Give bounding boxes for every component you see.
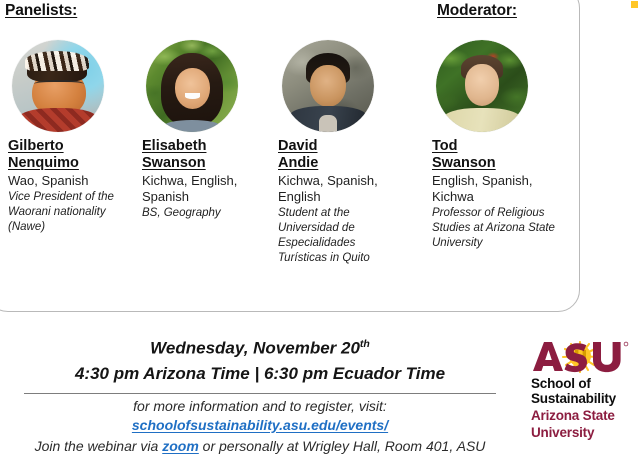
panelist-name-line2: Nenquimo — [8, 155, 136, 172]
portrait-tod-swanson-icon — [436, 40, 528, 132]
zoom-link[interactable]: zoom — [162, 438, 199, 454]
portrait-gilberto-nenquimo-icon — [12, 40, 104, 132]
asu-university-line2: University — [531, 425, 635, 440]
portrait-elisabeth-swanson-icon — [146, 40, 238, 132]
asu-school-line1: School of — [531, 376, 635, 391]
moderator-languages: English, Spanish, Kichwa — [432, 173, 560, 205]
moderator-name: Tod Swanson — [432, 138, 560, 172]
avatar — [282, 40, 374, 132]
event-time: 4:30 pm Arizona Time | 6:30 pm Ecuador T… — [0, 361, 520, 386]
join-prefix-text: Join the webinar via — [35, 438, 163, 454]
panelist-name-line2: Andie — [278, 155, 406, 172]
moderator-card-tod-swanson: Tod Swanson English, Spanish, Kichwa Pro… — [432, 40, 560, 251]
panelist-role: Student at the Universidad de Especialid… — [278, 206, 406, 266]
panelist-name: Gilberto Nenquimo — [8, 138, 136, 172]
corner-accent-mark — [631, 1, 638, 8]
panelist-name-line1: David — [278, 138, 406, 155]
panelist-languages: Wao, Spanish — [8, 173, 136, 189]
avatar — [12, 40, 104, 132]
moderator-heading: Moderator: — [437, 2, 517, 20]
panelist-languages: Kichwa, English, Spanish — [142, 173, 270, 205]
join-suffix-text: or personally at Wrigley Hall, Room 401,… — [199, 438, 486, 454]
event-date-ordinal: th — [360, 338, 370, 350]
moderator-name-line1: Tod — [432, 138, 560, 155]
panelist-name-line2: Swanson — [142, 155, 270, 172]
join-instructions: Join the webinar via zoom or personally … — [0, 436, 520, 456]
event-date-text: Wednesday, November 20 — [150, 339, 360, 358]
panelist-name-line1: Gilberto — [8, 138, 136, 155]
asu-wordmark-icon — [531, 341, 629, 373]
panelist-name-line1: Elisabeth — [142, 138, 270, 155]
register-url-link[interactable]: schoolofsustainability.asu.edu/events/ — [0, 416, 520, 435]
panelist-languages: Kichwa, Spanish, English — [278, 173, 406, 205]
panelist-role: BS, Geography — [142, 206, 270, 221]
asu-university-line1: Arizona State — [531, 408, 635, 423]
event-date: Wednesday, November 20th — [0, 332, 520, 361]
panelist-card-elisabeth-swanson: Elisabeth Swanson Kichwa, English, Spani… — [142, 40, 270, 221]
asu-school-line2: Sustainability — [531, 391, 635, 406]
panelists-heading: Panelists: — [5, 2, 77, 20]
divider — [24, 393, 496, 394]
panelist-name: Elisabeth Swanson — [142, 138, 270, 172]
panelist-card-gilberto-nenquimo: Gilberto Nenquimo Wao, Spanish Vice Pres… — [8, 40, 136, 235]
avatar — [436, 40, 528, 132]
avatar — [146, 40, 238, 132]
panelist-role: Vice President of the Waorani nationalit… — [8, 190, 136, 235]
portrait-david-andie-icon — [282, 40, 374, 132]
event-info-block: Wednesday, November 20th 4:30 pm Arizona… — [0, 332, 520, 456]
moderator-name-line2: Swanson — [432, 155, 560, 172]
register-prompt: for more information and to register, vi… — [0, 397, 520, 416]
asu-logo: School of Sustainability Arizona State U… — [531, 341, 635, 440]
panelist-card-david-andie: David Andie Kichwa, Spanish, English Stu… — [278, 40, 406, 266]
moderator-role: Professor of Religious Studies at Arizon… — [432, 206, 560, 251]
panelist-name: David Andie — [278, 138, 406, 172]
